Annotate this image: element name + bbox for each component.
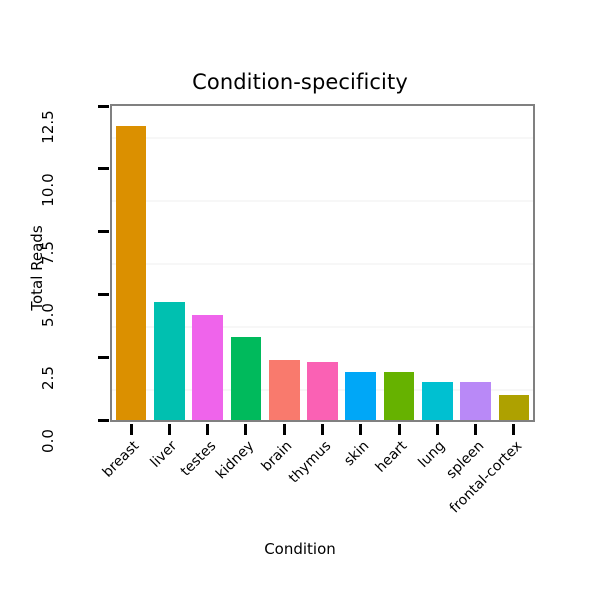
y-tick-label: 10.0 [39, 168, 57, 212]
y-tick-label: 0.0 [39, 419, 57, 463]
chart-title: Condition-specificity [0, 70, 600, 94]
bar[interactable] [154, 302, 185, 420]
y-tick-mark [98, 419, 109, 422]
bar-chart: Condition-specificity Total Reads 0.02.5… [0, 0, 600, 600]
y-tick-label: 5.0 [39, 293, 57, 337]
bar[interactable] [192, 315, 223, 421]
x-tick-mark [474, 424, 477, 435]
x-tick-mark [321, 424, 324, 435]
x-tick-mark [168, 424, 171, 435]
plot-panel [110, 104, 535, 422]
x-tick-mark [512, 424, 515, 435]
x-tick-mark [206, 424, 209, 435]
bar[interactable] [307, 362, 338, 420]
bar[interactable] [345, 372, 376, 420]
x-tick-mark [283, 424, 286, 435]
y-tick-mark [98, 356, 109, 359]
bar[interactable] [422, 382, 453, 420]
x-tick-mark [436, 424, 439, 435]
x-tick-mark [130, 424, 133, 435]
y-tick-mark [98, 230, 109, 233]
bar[interactable] [269, 360, 300, 420]
bar[interactable] [116, 126, 147, 420]
bar[interactable] [499, 395, 530, 420]
bar[interactable] [460, 382, 491, 420]
y-tick-mark [98, 105, 109, 108]
x-axis-title: Condition [0, 540, 600, 558]
bars-layer [112, 106, 533, 420]
bar[interactable] [231, 337, 262, 420]
y-tick-label: 7.5 [39, 231, 57, 275]
x-tick-mark [359, 424, 362, 435]
y-tick-label: 12.5 [39, 105, 57, 149]
bar[interactable] [384, 372, 415, 420]
y-tick-mark [98, 293, 109, 296]
y-tick-label: 2.5 [39, 356, 57, 400]
y-tick-mark [98, 167, 109, 170]
x-tick-mark [398, 424, 401, 435]
x-tick-mark [244, 424, 247, 435]
